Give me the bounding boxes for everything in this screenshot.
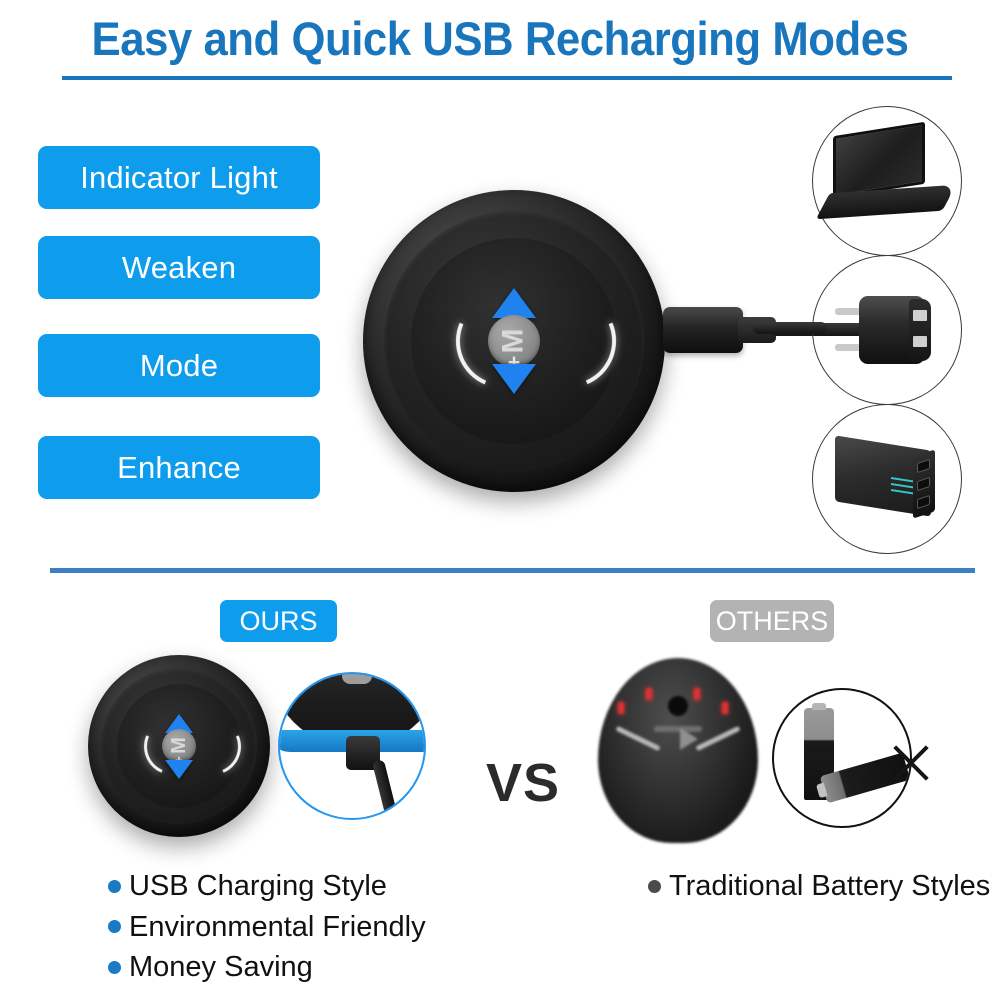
triangle-down-icon[interactable] xyxy=(492,364,536,394)
others-led-4 xyxy=(722,702,728,714)
tag-others: OTHERS xyxy=(710,600,834,642)
inset-usb-cable xyxy=(372,759,399,820)
power-bank-icon xyxy=(812,404,962,554)
laptop-icon xyxy=(812,106,962,256)
ours-device-face: - M + xyxy=(117,684,241,808)
mode-button-label: M xyxy=(497,328,531,353)
adapter-cable xyxy=(753,322,827,334)
title-block: Easy and Quick USB Recharging Modes xyxy=(0,14,1000,63)
vs-label: VS xyxy=(486,752,560,814)
usb-wall-adapter-icon xyxy=(812,255,962,405)
x-cross-icon xyxy=(888,740,934,786)
bullet-text: Environmental Friendly xyxy=(129,909,426,946)
list-item: USB Charging Style xyxy=(108,868,426,905)
feature-label-indicator-light: Indicator Light xyxy=(38,146,320,209)
feature-label-weaken: Weaken xyxy=(38,236,320,299)
ours-device-image: - M + xyxy=(88,655,270,837)
others-center-dot xyxy=(668,696,688,716)
others-led-1 xyxy=(618,702,624,714)
main-device-image: - M + xyxy=(363,190,665,492)
bullet-dot-icon xyxy=(108,961,121,974)
plug-prong-top xyxy=(835,308,861,315)
list-item: Traditional Battery Styles xyxy=(648,868,990,905)
others-triangle-icon xyxy=(680,728,698,750)
others-device-image xyxy=(598,658,758,843)
tag-ours: OURS xyxy=(220,600,337,642)
list-item: Money Saving xyxy=(108,949,426,986)
ours-triangle-down-icon xyxy=(165,760,193,779)
bullet-dot-icon xyxy=(108,880,121,893)
page-title: Easy and Quick USB Recharging Modes xyxy=(35,14,965,63)
others-bullet-list: Traditional Battery Styles xyxy=(648,868,990,909)
usb-port-top xyxy=(913,310,927,321)
usb-plug-icon xyxy=(663,307,743,353)
bullet-text: Money Saving xyxy=(129,949,313,986)
adapter-port-face xyxy=(909,299,931,361)
product-infographic: Easy and Quick USB Recharging Modes Indi… xyxy=(0,0,1000,1000)
others-wing-right xyxy=(695,726,740,752)
bullet-dot-icon xyxy=(648,880,661,893)
usb-port-bottom xyxy=(913,336,927,347)
list-item: Environmental Friendly xyxy=(108,909,426,946)
title-underline xyxy=(62,76,952,80)
plug-prong-bottom xyxy=(835,344,861,351)
others-led-2 xyxy=(646,688,652,700)
feature-label-enhance: Enhance xyxy=(38,436,320,499)
inset-top-button xyxy=(342,672,372,684)
section-divider xyxy=(50,568,975,573)
bullet-dot-icon xyxy=(108,920,121,933)
feature-label-mode: Mode xyxy=(38,334,320,397)
device-face: - M + xyxy=(411,238,616,443)
usb-cable-inset-icon xyxy=(278,672,426,820)
bullet-text: Traditional Battery Styles xyxy=(669,868,990,905)
ours-bullet-list: USB Charging Style Environmental Friendl… xyxy=(108,868,426,990)
others-led-3 xyxy=(694,688,700,700)
bullet-text: USB Charging Style xyxy=(129,868,387,905)
